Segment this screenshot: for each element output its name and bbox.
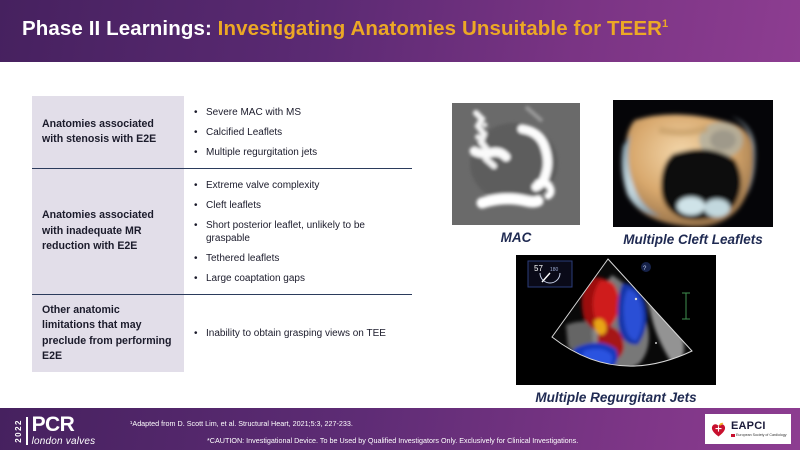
list-item: •Multiple regurgitation jets — [194, 142, 408, 162]
list-item: •Calcified Leaflets — [194, 122, 408, 142]
list-item-text: Multiple regurgitation jets — [206, 146, 408, 159]
svg-text:57: 57 — [534, 264, 543, 273]
pcr-logo: 2022 PCR london valves — [14, 414, 95, 447]
slide-footer: 2022 PCR london valves ¹Adapted from D. … — [0, 408, 800, 450]
list-item-text: Extreme valve complexity — [206, 179, 408, 192]
pcr-logo-name: PCR — [32, 414, 96, 435]
pcr-logo-subtitle: london valves — [32, 437, 96, 447]
page-title-secondary: Investigating Anatomies Unsuitable for T… — [218, 17, 662, 40]
eapci-square-icon — [731, 434, 735, 438]
list-item: •Inability to obtain grasping views on T… — [194, 324, 408, 344]
figure-caption-cleft: Multiple Cleft Leaflets — [613, 232, 773, 247]
cleft-3d-echo-image — [613, 100, 773, 227]
list-item: •Large coaptation gaps — [194, 268, 408, 288]
list-item-text: Large coaptation gaps — [206, 272, 408, 285]
table-row-items: •Extreme valve complexity•Cleft leaflets… — [184, 169, 412, 294]
list-item: •Extreme valve complexity — [194, 175, 408, 195]
caution-statement: *CAUTION: Investigational Device. To be … — [207, 436, 578, 445]
list-item-text: Calcified Leaflets — [206, 126, 408, 139]
list-item-text: Cleft leaflets — [206, 199, 408, 212]
page-title-primary: Phase II Learnings: — [22, 17, 212, 40]
footnote-reference: ¹Adapted from D. Scott Lim, et al. Struc… — [130, 419, 353, 428]
heart-icon — [710, 421, 727, 438]
table-row-label: Anatomies associated with inadequate MR … — [32, 169, 184, 294]
eapci-name: EAPCI — [731, 421, 787, 432]
bullet-icon: • — [194, 219, 206, 232]
eapci-logo: EAPCI European Society of Cardiology — [705, 414, 791, 444]
bullet-icon: • — [194, 199, 206, 212]
slide-header: Phase II Learnings: Investigating Anatom… — [0, 0, 800, 62]
anatomies-table: Anatomies associated with stenosis with … — [32, 96, 412, 372]
figure-caption-jets: Multiple Regurgitant Jets — [516, 390, 716, 405]
list-item-text: Tethered leaflets — [206, 252, 408, 265]
eapci-subtitle-wrap: European Society of Cardiology — [731, 434, 787, 438]
list-item-text: Severe MAC with MS — [206, 106, 408, 119]
figure-regurgitant-jets: 57 180 ? Multiple Regurgitant Jets — [516, 255, 716, 405]
bullet-icon: • — [194, 106, 206, 119]
list-item-text: Short posterior leaflet, unlikely to be … — [206, 219, 408, 245]
bullet-icon: • — [194, 252, 206, 265]
bullet-icon: • — [194, 179, 206, 192]
doppler-angle-indicator: 57 180 — [528, 261, 572, 287]
list-item: •Cleft leaflets — [194, 195, 408, 215]
table-row: Anatomies associated with inadequate MR … — [32, 169, 412, 295]
figure-caption-mac: MAC — [452, 230, 580, 245]
eapci-subtitle: European Society of Cardiology — [736, 434, 787, 438]
bullet-icon: • — [194, 272, 206, 285]
figure-mac: MAC — [452, 103, 580, 245]
table-row-items: •Inability to obtain grasping views on T… — [184, 295, 412, 372]
pcr-logo-divider — [26, 417, 28, 445]
svg-text:180: 180 — [550, 267, 559, 273]
table-row-label: Other anatomic limitations that may prec… — [32, 295, 184, 372]
bullet-icon: • — [194, 146, 206, 159]
list-item: •Short posterior leaflet, unlikely to be… — [194, 215, 408, 248]
list-item: •Severe MAC with MS — [194, 102, 408, 122]
cleft-echo-svg — [613, 100, 773, 227]
table-row: Anatomies associated with stenosis with … — [32, 96, 412, 169]
mac-ct-image — [452, 103, 580, 225]
doppler-svg: 57 180 ? — [516, 255, 716, 385]
bullet-icon: • — [194, 126, 206, 139]
doppler-tee-image: 57 180 ? — [516, 255, 716, 385]
table-row-label: Anatomies associated with stenosis with … — [32, 96, 184, 168]
bullet-icon: • — [194, 327, 206, 340]
table-row-items: •Severe MAC with MS•Calcified Leaflets•M… — [184, 96, 412, 168]
figure-cleft-leaflets: Multiple Cleft Leaflets — [613, 100, 773, 247]
table-row: Other anatomic limitations that may prec… — [32, 295, 412, 372]
mac-ct-svg — [452, 103, 580, 225]
page-title: Phase II Learnings: Investigating Anatom… — [22, 17, 668, 41]
list-item-text: Inability to obtain grasping views on TE… — [206, 327, 408, 340]
pcr-logo-year: 2022 — [14, 419, 23, 443]
page-title-superscript: 1 — [662, 18, 668, 30]
list-item: •Tethered leaflets — [194, 248, 408, 268]
